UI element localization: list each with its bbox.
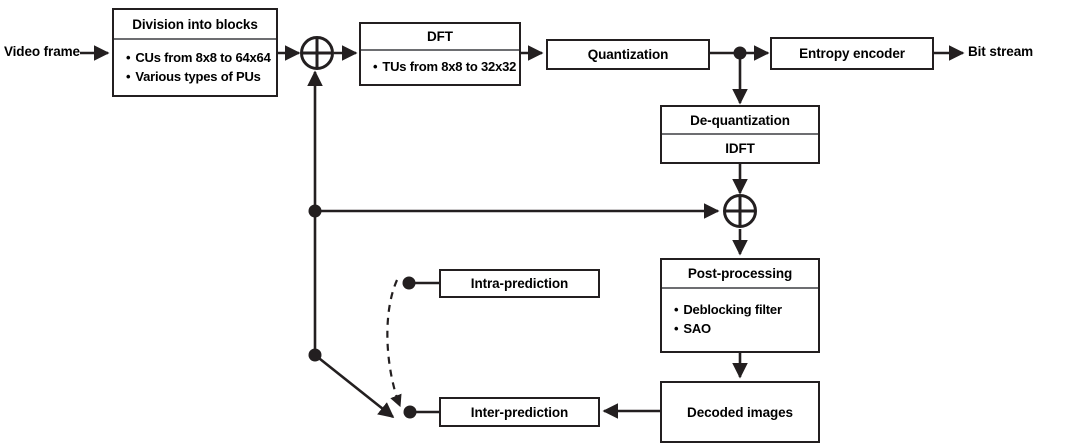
block-dequantization-title: De-quantization xyxy=(662,107,818,135)
block-dft-title: DFT xyxy=(361,24,519,51)
output-label: Bit stream xyxy=(968,44,1033,59)
block-division-title: Division into blocks xyxy=(114,10,276,40)
block-idft-title: IDFT xyxy=(662,135,818,162)
switch-arc xyxy=(387,280,400,406)
block-decoded-images-title: Decoded images xyxy=(662,383,818,441)
junction-dot-quantization xyxy=(734,47,747,60)
block-dft-body: TUs from 8x8 to 32x32 xyxy=(361,51,519,84)
block-dft-item-0: TUs from 8x8 to 32x32 xyxy=(373,58,519,77)
block-inter-prediction-title: Inter-prediction xyxy=(441,399,598,425)
block-division-body: CUs from 8x8 to 64x64 Various types of P… xyxy=(114,40,276,95)
block-intra-prediction-title: Intra-prediction xyxy=(441,271,598,296)
junction-dot-lower xyxy=(309,349,322,362)
block-post-processing-item-1: SAO xyxy=(674,320,818,339)
switch-node-inter xyxy=(404,406,417,419)
block-entropy-encoder-title: Entropy encoder xyxy=(772,39,932,68)
block-decoded-images[interactable]: Decoded images xyxy=(660,381,820,443)
block-inter-prediction[interactable]: Inter-prediction xyxy=(439,397,600,427)
block-dequantization-idft[interactable]: De-quantization IDFT xyxy=(660,105,820,164)
block-post-processing-item-0: Deblocking filter xyxy=(674,301,818,320)
block-quantization[interactable]: Quantization xyxy=(546,39,710,70)
block-division-item-0: CUs from 8x8 to 64x64 xyxy=(126,49,276,68)
block-division-into-blocks[interactable]: Division into blocks CUs from 8x8 to 64x… xyxy=(112,8,278,97)
wire-junction-to-switch xyxy=(315,355,393,417)
block-post-processing-title: Post-processing xyxy=(662,260,818,289)
block-post-processing-body: Deblocking filter SAO xyxy=(662,289,818,351)
junction-dot-mid xyxy=(309,205,322,218)
input-label: Video frame xyxy=(4,44,80,59)
adder-2-icon xyxy=(725,196,756,227)
block-post-processing[interactable]: Post-processing Deblocking filter SAO xyxy=(660,258,820,353)
block-entropy-encoder[interactable]: Entropy encoder xyxy=(770,37,934,70)
junction-dots xyxy=(309,47,747,419)
encoder-block-diagram: Video frame Bit stream Division into blo… xyxy=(0,0,1080,443)
block-dft[interactable]: DFT TUs from 8x8 to 32x32 xyxy=(359,22,521,86)
block-quantization-title: Quantization xyxy=(548,41,708,68)
adder-1-icon xyxy=(302,38,333,69)
switch-node-intra xyxy=(403,277,416,290)
block-intra-prediction[interactable]: Intra-prediction xyxy=(439,269,600,298)
block-division-item-1: Various types of PUs xyxy=(126,68,276,87)
